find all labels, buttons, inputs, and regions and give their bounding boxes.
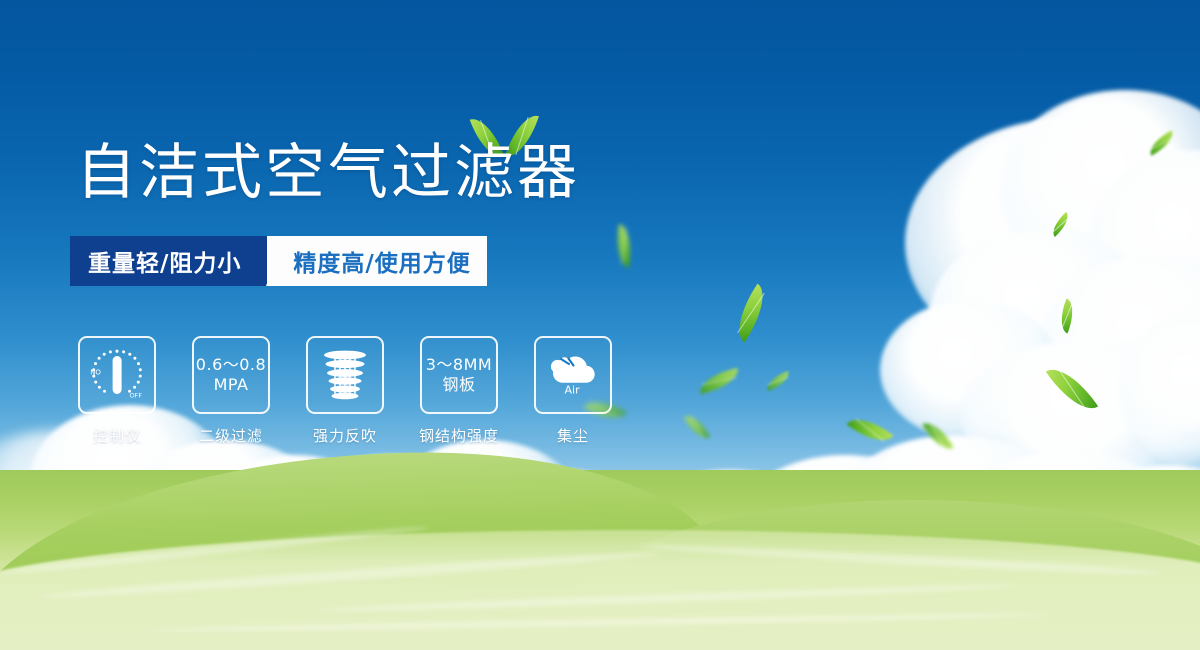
leaf-icon [726,284,776,343]
leaf-icon [613,224,635,268]
feature-icon-box [306,336,384,414]
steel-material: 钢板 [426,375,492,395]
feature-item-steel: 3～8MM 钢板 钢结构强度 [420,336,498,446]
feature-item-backblow: 强力反吹 [306,336,384,446]
cloud-shape [960,340,1200,490]
feature-label: 强力反吹 [313,425,377,446]
leaf-icon [847,409,894,452]
tag-precision-ease: 精度高/使用方便 [267,236,486,286]
steel-thickness: 3～8MM [426,355,492,375]
feature-label: 控制仪 [93,425,141,446]
leaf-icon [1048,212,1074,237]
leaf-icon [1055,299,1080,334]
cloud-air-icon: Air [544,352,602,396]
feature-label: 钢结构强度 [419,425,499,446]
pressure-icon: 0.6～0.8 MPA [196,355,266,394]
cloud-shape [880,300,1060,440]
feature-item-filtration: 0.6～0.8 MPA 二级过滤 [192,336,270,446]
feature-icon-box: 0.6～0.8 MPA [192,336,270,414]
pressure-value: 0.6～0.8 [196,355,266,375]
feature-icon-box: NO OFF [78,336,156,414]
leaf-icon [684,410,710,443]
tag-weight-resistance: 重量轻/阻力小 [70,236,275,286]
steel-plate-icon: 3～8MM 钢板 [426,355,492,394]
page-title: 自洁式空气过滤器 [76,143,580,203]
leaf-icon [697,368,742,394]
leaf-icon [922,416,954,455]
leaf-icon [764,371,793,391]
leaf-icon [1145,130,1178,156]
air-label: Air [565,384,581,397]
product-banner: 自洁式空气过滤器 重量轻/阻力小 精度高/使用方便 [0,0,1200,650]
cloud-shape [905,118,1200,368]
feature-tag-group: 重量轻/阻力小 精度高/使用方便 [70,236,487,286]
cloud-shape [1120,310,1200,470]
tag-label: 精度高/使用方便 [293,244,470,278]
feature-icon-box: Air [534,336,612,414]
cloud-shape [1040,255,1200,435]
feature-icon-row: NO OFF 控制仪 0.6～0.8 MPA 二级过滤 [78,336,612,446]
cloud-shape [1090,150,1200,340]
cloud-shape [1000,90,1200,290]
gauge-no-label: NO [90,369,101,377]
feature-item-dust: Air 集尘 [534,336,612,446]
gauge-icon: NO OFF [87,346,147,404]
pressure-unit: MPA [196,375,266,395]
feature-label: 集尘 [557,425,589,446]
leaf-icon [1046,358,1098,420]
filter-coil-icon [317,346,373,404]
tag-label: 重量轻/阻力小 [88,244,241,278]
feature-item-control: NO OFF 控制仪 [78,336,156,446]
feature-label: 二级过滤 [199,425,263,446]
cloud-shape [930,230,1150,400]
feature-icon-box: 3～8MM 钢板 [420,336,498,414]
gauge-off-label: OFF [130,392,143,400]
